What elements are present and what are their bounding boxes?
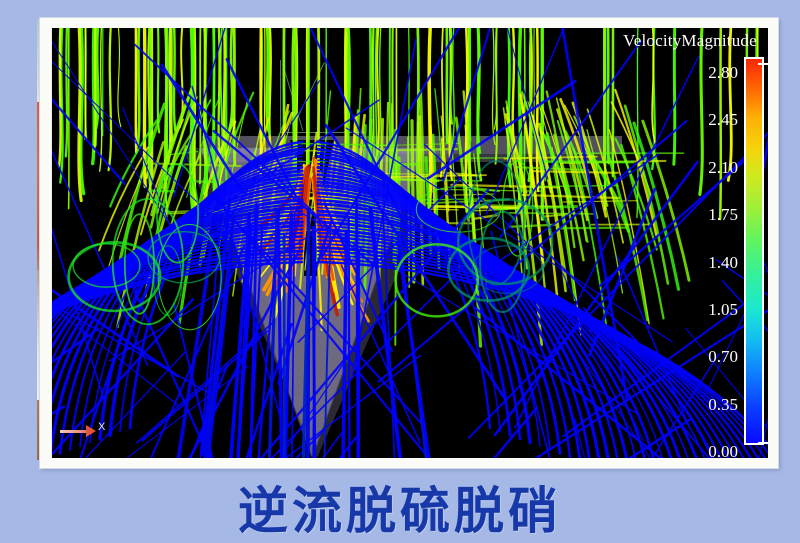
colorbar-tick-label: 2.45 (638, 110, 738, 130)
colorbar-tick-label: 0.00 (638, 442, 738, 458)
slide-canvas: X VelocityMagnitude 2.802.452.101.751.40… (0, 0, 800, 542)
colorbar-tick-label: 1.40 (638, 253, 738, 273)
colorbar-gradient[interactable] (744, 57, 764, 445)
axis-x-arrowhead-icon (86, 425, 96, 437)
colorbar-tick-label: 2.10 (638, 158, 738, 178)
axis-x-label: X (98, 421, 105, 433)
slide-caption: 逆流脱硫脱硝 (0, 472, 800, 542)
colorbar-tick-label: 0.70 (638, 347, 738, 367)
axis-indicator: X (60, 420, 108, 442)
render-viewport[interactable]: X VelocityMagnitude 2.802.452.101.751.40… (52, 28, 768, 458)
colorbar-title: VelocityMagnitude (570, 31, 768, 51)
colorbar-max-tickmark (758, 63, 768, 65)
colorbar-tick-label: 2.80 (638, 63, 738, 83)
colorbar-tick-label: 1.75 (638, 205, 738, 225)
colorbar-min-tickmark (758, 442, 768, 444)
colorbar-legend: VelocityMagnitude 2.802.452.101.751.401.… (688, 28, 768, 458)
streamlines-svg (52, 28, 768, 458)
colorbar-tick-label: 1.05 (638, 300, 738, 320)
colorbar-tick-label: 0.35 (638, 395, 738, 415)
